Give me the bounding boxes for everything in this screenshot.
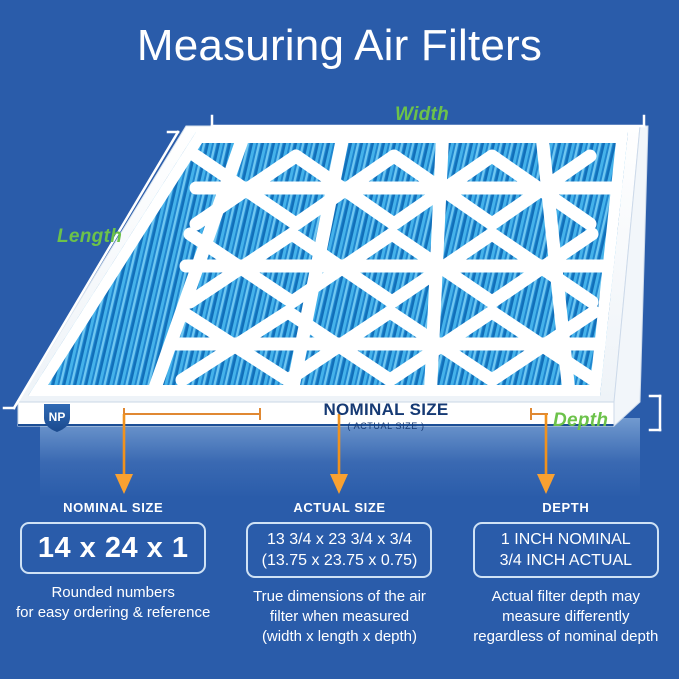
card-title: DEPTH (542, 500, 589, 515)
card-actual-size: ACTUAL SIZE 13 3/4 x 23 3/4 x 3/4 (13.75… (226, 500, 452, 679)
summary-cards: NOMINAL SIZE 14 x 24 x 1 Rounded numbers… (0, 500, 679, 679)
card-depth: DEPTH 1 INCH NOMINAL 3/4 INCH ACTUAL Act… (453, 500, 679, 679)
card-value-line: 3/4 INCH ACTUAL (500, 550, 632, 571)
filter-diagram-svg: NP (0, 96, 679, 496)
card-value-line: 14 x 24 x 1 (38, 531, 189, 565)
depth-label: Depth (553, 410, 608, 432)
card-description-line: (width x length x depth) (253, 627, 426, 647)
air-filter-illustration: NP (0, 96, 679, 496)
filter-front-edge (18, 402, 614, 426)
card-description-line: Actual filter depth may (473, 587, 658, 607)
card-description-line: measure differently (473, 607, 658, 627)
card-description-line: for easy ordering & reference (16, 603, 210, 623)
card-description-line: regardless of nominal depth (473, 627, 658, 647)
card-value-line: 1 INCH NOMINAL (501, 529, 631, 550)
card-value-line: (13.75 x 23.75 x 0.75) (262, 550, 418, 571)
length-label: Length (57, 226, 122, 248)
card-description-line: Rounded numbers (16, 583, 210, 603)
card-value-box: 13 3/4 x 23 3/4 x 3/4 (13.75 x 23.75 x 0… (246, 522, 432, 578)
card-nominal-size: NOMINAL SIZE 14 x 24 x 1 Rounded numbers… (0, 500, 226, 679)
card-title: ACTUAL SIZE (293, 500, 385, 515)
card-title: NOMINAL SIZE (63, 500, 163, 515)
card-value-line: 13 3/4 x 23 3/4 x 3/4 (267, 529, 412, 550)
width-label: Width (395, 104, 449, 126)
card-description-line: True dimensions of the air (253, 587, 426, 607)
card-value-box: 1 INCH NOMINAL 3/4 INCH ACTUAL (473, 522, 659, 578)
card-description: True dimensions of the air filter when m… (253, 587, 426, 647)
card-description: Actual filter depth may measure differen… (473, 587, 658, 647)
card-description: Rounded numbers for easy ordering & refe… (16, 583, 210, 623)
infographic-canvas: Measuring Air Filters (0, 0, 679, 679)
card-value-box: 14 x 24 x 1 (20, 522, 206, 574)
card-description-line: filter when measured (253, 607, 426, 627)
depth-bracket (650, 396, 660, 430)
page-title: Measuring Air Filters (0, 20, 679, 72)
svg-text:NP: NP (49, 410, 66, 424)
